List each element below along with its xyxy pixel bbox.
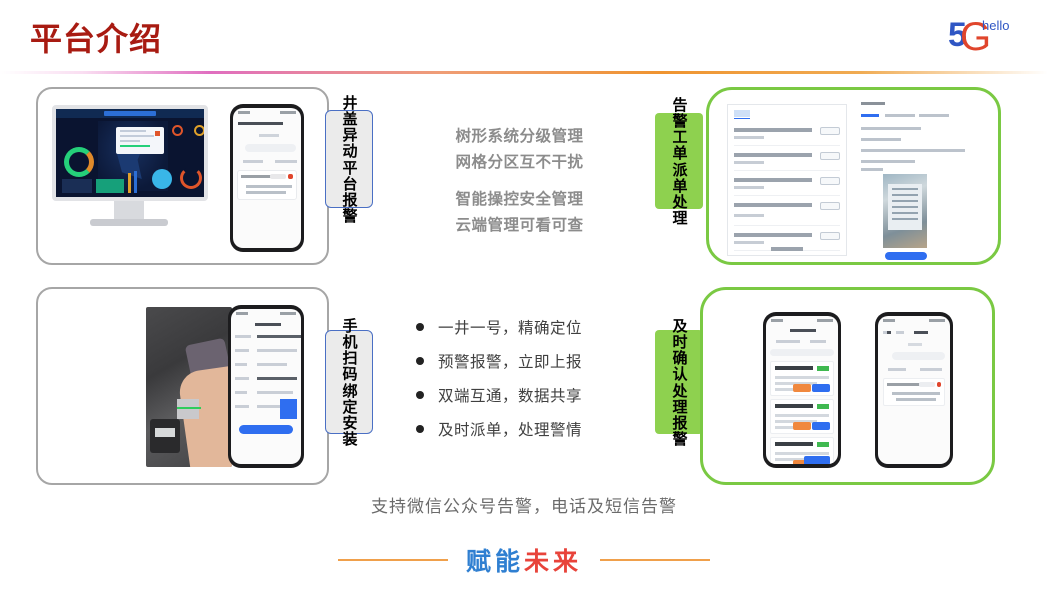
tab-bind-install[interactable]: 手机扫码 绑定安装 <box>325 330 373 434</box>
dashboard-bar-b <box>96 179 124 193</box>
tab-dispatch-handling-col-right: 派单处理 <box>672 162 687 226</box>
bullet-dot-icon <box>416 357 424 365</box>
phone-install-form-mock <box>228 305 304 468</box>
footer-slogan-blue: 赋能 <box>466 548 524 576</box>
wechat-search-field[interactable] <box>892 352 945 360</box>
phone-search-field[interactable] <box>245 144 296 152</box>
phone-status-bar <box>878 316 950 324</box>
phone-wechat-alert-mock <box>875 312 953 468</box>
tab-bind-install-col-right: 绑定安装 <box>342 383 357 447</box>
monitor-stand-neck <box>114 201 144 221</box>
alarm-row[interactable] <box>770 437 834 464</box>
dashboard-bar-c <box>128 173 131 193</box>
bullet-dot-icon <box>416 323 424 331</box>
dashboard-bar-d <box>134 171 137 193</box>
tab-handle-alarm-col-left: 及时确认 <box>672 318 687 382</box>
tab-handle-alarm-col-right: 处理报警 <box>672 383 687 447</box>
platform-dashboard-card <box>36 87 329 265</box>
tab-platform-alarm-col-right: 平台报警 <box>342 160 357 224</box>
dashboard-gauge-icon-1 <box>172 125 183 136</box>
dashboard-ring-chart <box>180 167 202 189</box>
feature-line-1: 树形系统分级管理 <box>432 124 607 150</box>
bullet-text: 及时派单，处理警情 <box>438 422 582 439</box>
bullet-dot-icon <box>416 425 424 433</box>
dashboard-gauge-icon-2 <box>194 125 205 136</box>
phone-status-bar <box>233 108 301 116</box>
bullet-text: 双端互通，数据共享 <box>438 388 582 405</box>
list-item: 双端互通，数据共享 <box>416 380 646 414</box>
alarm-row[interactable] <box>770 399 834 434</box>
footer-slogan-red: 未来 <box>524 548 582 576</box>
work-order-detail-pane <box>861 100 981 260</box>
footer-rule-right <box>600 559 710 561</box>
bullet-text: 预警报警，立即上报 <box>438 354 582 371</box>
dashboard-popup-widget <box>116 127 164 154</box>
tab-handle-alarm[interactable]: 及时确认 处理报警 <box>655 330 703 434</box>
phone-alert-mock <box>230 104 304 252</box>
phone-alarm-list-mock <box>763 312 841 468</box>
tab-platform-alarm-col-left: 井盖异动 <box>342 95 357 159</box>
slide-root: 平台介绍 5 G hello <box>0 0 1048 589</box>
dashboard-bar-a <box>62 179 92 193</box>
dashboard-pie-chart <box>152 169 172 189</box>
dashboard-screen <box>52 105 208 201</box>
desktop-monitor-mock <box>52 105 208 237</box>
work-order-tab[interactable] <box>734 110 750 117</box>
scan-install-card <box>36 287 329 485</box>
work-order-list <box>727 104 847 256</box>
feature-text-block: 树形系统分级管理 网格分区互不干扰 智能操控安全管理 云端管理可看可查 <box>432 124 607 239</box>
work-order-action-button[interactable] <box>885 252 927 260</box>
phone-status-bar <box>766 316 838 324</box>
monitor-stand-base <box>90 219 168 226</box>
footer: 赋能未来 <box>0 540 1048 580</box>
bullet-dot-icon <box>416 391 424 399</box>
phone-status-bar <box>231 309 301 317</box>
qr-scan-photo <box>146 307 232 467</box>
tab-platform-alarm[interactable]: 井盖异动 平台报警 <box>325 110 373 208</box>
bullet-text: 一井一号，精确定位 <box>438 320 582 337</box>
list-item: 一井一号，精确定位 <box>416 312 646 346</box>
wechat-message-card[interactable] <box>883 378 945 406</box>
tab-dispatch-handling-col-left: 告警工单 <box>672 97 687 161</box>
phone-form-side-button[interactable] <box>280 399 297 419</box>
phone-alert-card[interactable] <box>237 170 297 200</box>
work-order-row[interactable] <box>734 123 840 146</box>
brand-logo-5g-hello: 5 G hello <box>920 8 1032 56</box>
feature-line-3: 智能操控安全管理 <box>432 187 607 213</box>
work-order-photo <box>883 174 927 248</box>
tab-dispatch-handling[interactable]: 告警工单 派单处理 <box>655 113 703 209</box>
feature-line-4: 云端管理可看可查 <box>432 213 607 239</box>
svg-text:hello: hello <box>982 18 1009 33</box>
list-item: 预警报警，立即上报 <box>416 346 646 380</box>
bottom-note: 支持微信公众号告警，电话及短信告警 <box>0 492 1048 517</box>
dashboard-donut-chart <box>64 147 94 177</box>
view-all-link[interactable] <box>728 247 846 251</box>
page-title: 平台介绍 <box>30 14 162 60</box>
footer-slogan: 赋能未来 <box>466 542 582 578</box>
feature-line-2: 网格分区互不干扰 <box>432 150 607 176</box>
phone-form-submit-button[interactable] <box>239 425 293 434</box>
work-order-row[interactable] <box>734 198 840 226</box>
list-item: 及时派单，处理警情 <box>416 414 646 448</box>
bullet-list: 一井一号，精确定位 预警报警，立即上报 双端互通，数据共享 及时派单，处理警情 <box>416 312 646 448</box>
alarm-handling-card <box>700 287 995 485</box>
work-order-row[interactable] <box>734 173 840 196</box>
alarm-row[interactable] <box>770 361 834 396</box>
header-divider <box>0 71 1048 74</box>
work-order-row[interactable] <box>734 148 840 171</box>
phone-alarm-search[interactable] <box>770 349 834 356</box>
dashboard-header-bar <box>56 109 204 118</box>
footer-rule-left <box>338 559 448 561</box>
work-order-card <box>706 87 1001 265</box>
tab-bind-install-col-left: 手机扫码 <box>342 318 357 382</box>
